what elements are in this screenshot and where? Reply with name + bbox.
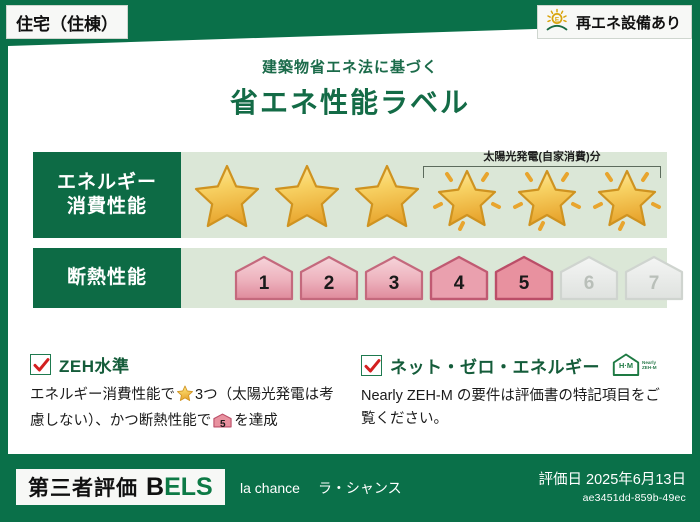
insulation-badge-1: 1 (233, 254, 295, 302)
netzero-criteria-header: ネット・ゼロ・エネルギー H·M Nearly ZEH-M (361, 352, 670, 378)
netzero-checkbox[interactable] (361, 355, 382, 376)
housing-type-label: 住宅（住棟） (16, 10, 118, 35)
solar-sun-icon: E (544, 8, 570, 37)
bels-jp-label: 第三者評価 (28, 472, 138, 502)
house-badge-icon-value: 5 (213, 417, 232, 433)
insulation-badge-4: 4 (428, 254, 490, 302)
zeh-body-part3: を達成 (234, 413, 278, 429)
brand-name-jp: ラ・シャンス (318, 478, 402, 498)
evaluation-date: 評価日 2025年6月13日 (539, 468, 686, 489)
solar-bracket-caption: 太陽光発電(自家消費)分 (413, 148, 671, 164)
zeh-body-part1: エネルギー消費性能で (30, 387, 175, 403)
criteria-columns: ZEH水準 エネルギー消費性能で 3つ（太陽光発電は考慮しない）、かつ断熱性能で… (30, 352, 670, 438)
housing-type-tag: 住宅（住棟） (6, 5, 128, 39)
zehm-sub-line2: ZEH-M (642, 365, 657, 370)
check-icon (364, 358, 381, 375)
insulation-performance-label: 断熱性能 (33, 248, 181, 308)
energy-label-root: 住宅（住棟） E 再エネ設備あり 建築物 (0, 0, 700, 522)
netzero-criteria-body: Nearly ZEH-M の要件は評価書の特記項目をご覧ください。 (361, 385, 670, 432)
house-badge-icon: 5 (213, 412, 232, 437)
energy-label-line1: エネルギー (57, 171, 157, 195)
star-icon (176, 384, 194, 410)
brand-name: la chance ラ・シャンス (240, 478, 402, 498)
insulation-label-text: 断熱性能 (67, 266, 147, 290)
star-rating (181, 152, 667, 238)
solar-bracket (423, 166, 661, 178)
svg-text:H·M: H·M (619, 361, 633, 370)
energy-performance-label: エネルギー 消費性能 (33, 152, 181, 238)
renewable-equipment-badge: E 再エネ設備あり (537, 5, 692, 39)
star-item (187, 156, 267, 234)
star-item (267, 156, 347, 234)
energy-performance-row: エネルギー 消費性能 太陽光発電(自家消費)分 (33, 152, 667, 238)
energy-label-line2: 消費性能 (67, 195, 147, 219)
footer-bar: 第三者評価 BELS la chance ラ・シャンス 評価日 2025年6月1… (0, 460, 700, 522)
zehm-sub-line1: Nearly (642, 360, 656, 365)
zeh-criteria-body: エネルギー消費性能で 3つ（太陽光発電は考慮しない）、かつ断熱性能で 5を達成 (30, 384, 339, 438)
zeh-criteria-column: ZEH水準 エネルギー消費性能で 3つ（太陽光発電は考慮しない）、かつ断熱性能で… (30, 352, 339, 438)
insulation-badge-6: 6 (558, 254, 620, 302)
netzero-criteria-column: ネット・ゼロ・エネルギー H·M Nearly ZEH-M Nearly ZEH… (361, 352, 670, 438)
netzero-criteria-title: ネット・ゼロ・エネルギー (390, 353, 600, 378)
zeh-checkbox[interactable] (30, 354, 51, 375)
page-title: 省エネ性能ラベル (0, 81, 700, 121)
insulation-badge-2: 2 (298, 254, 360, 302)
nearly-zeh-m-logo-text: Nearly ZEH-M (642, 360, 657, 371)
bels-logo-b: B (146, 473, 164, 501)
bels-certification-box: 第三者評価 BELS (16, 469, 225, 505)
insulation-performance-row: 断熱性能 1 2 (33, 248, 667, 308)
evaluation-id: ae3451dd-859b-49ec (539, 492, 686, 504)
star-item (347, 156, 427, 234)
page-subtitle: 建築物省エネ法に基づく (0, 56, 700, 77)
zeh-criteria-title: ZEH水準 (59, 352, 130, 377)
performance-rows: エネルギー 消費性能 太陽光発電(自家消費)分 (33, 152, 667, 308)
zeh-criteria-header: ZEH水準 (30, 352, 339, 377)
insulation-badge-list: 1 2 3 (181, 248, 667, 308)
insulation-badge-3: 3 (363, 254, 425, 302)
zeh-m-house-icon: H·M (610, 352, 640, 378)
bels-logo: BELS (146, 473, 213, 502)
evaluation-info: 評価日 2025年6月13日 ae3451dd-859b-49ec (539, 468, 686, 504)
nearly-zeh-m-logo: H·M Nearly ZEH-M (610, 352, 657, 378)
page-title-block: 建築物省エネ法に基づく 省エネ性能ラベル (0, 56, 700, 121)
insulation-badge-5: 5 (493, 254, 555, 302)
brand-name-en: la chance (240, 480, 300, 496)
insulation-badge-7: 7 (623, 254, 685, 302)
check-icon (33, 357, 50, 374)
bels-logo-els: ELS (164, 473, 213, 501)
insulation-performance-body: 1 2 3 (181, 248, 667, 308)
renewable-equipment-label: 再エネ設備あり (576, 12, 681, 33)
energy-performance-body: 太陽光発電(自家消費)分 (181, 152, 667, 238)
svg-text:E: E (555, 16, 560, 23)
